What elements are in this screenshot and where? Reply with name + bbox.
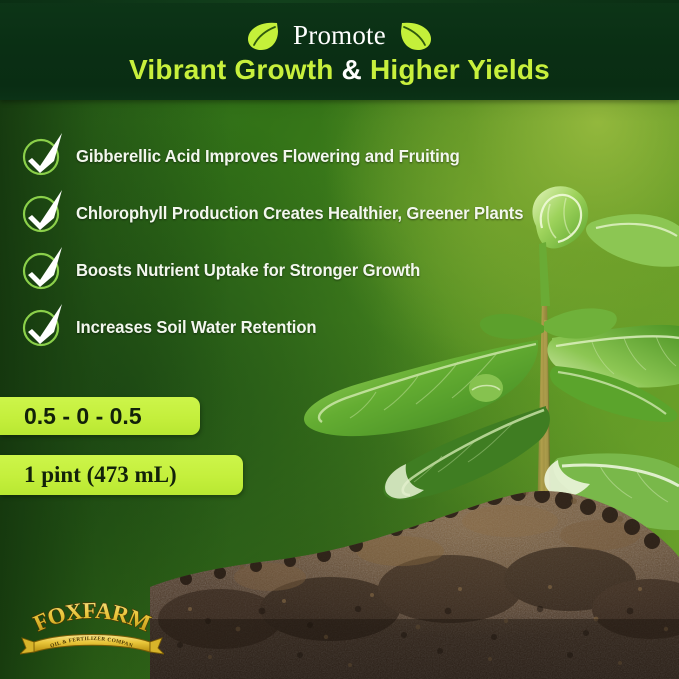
- logo-brand-text: FOXFARM: [30, 602, 155, 636]
- check-circle-icon: [24, 252, 62, 290]
- leaf-icon: [247, 21, 279, 51]
- header-subtitle-part2: Higher Yields: [362, 54, 550, 85]
- svg-text:FOXFARM: FOXFARM: [30, 602, 155, 636]
- leaf-icon: [400, 21, 432, 51]
- feature-checklist: Gibberellic Acid Improves Flowering and …: [24, 128, 584, 356]
- list-item: Boosts Nutrient Uptake for Stronger Grow…: [24, 242, 584, 299]
- package-size-badge: 1 pint (473 mL): [0, 455, 243, 495]
- product-feature-graphic: Promote Vibrant Growth & Higher Yields G…: [0, 0, 679, 679]
- check-circle-icon: [24, 309, 62, 347]
- header-ampersand: &: [342, 54, 362, 85]
- list-item-label: Boosts Nutrient Uptake for Stronger Grow…: [76, 260, 420, 281]
- list-item-label: Increases Soil Water Retention: [76, 317, 316, 338]
- soil-mound-image: [150, 469, 679, 679]
- list-item-label: Gibberellic Acid Improves Flowering and …: [76, 146, 460, 167]
- list-item: Chlorophyll Production Creates Healthier…: [24, 185, 584, 242]
- check-circle-icon: [24, 138, 62, 176]
- header-line-1: Promote: [0, 20, 679, 51]
- header-banner: Promote Vibrant Growth & Higher Yields: [0, 0, 679, 100]
- list-item: Gibberellic Acid Improves Flowering and …: [24, 128, 584, 185]
- list-item: Increases Soil Water Retention: [24, 299, 584, 356]
- header-title-promote: Promote: [293, 20, 386, 51]
- header-subtitle-part1: Vibrant Growth: [129, 54, 342, 85]
- foxfarm-logo: FOXFARM SOIL & FERTILIZER COMPANY: [20, 602, 164, 660]
- list-item-label: Chlorophyll Production Creates Healthier…: [76, 203, 523, 224]
- header-line-2: Vibrant Growth & Higher Yields: [0, 54, 679, 86]
- npk-ratio-badge: 0.5 - 0 - 0.5: [0, 397, 200, 435]
- check-circle-icon: [24, 195, 62, 233]
